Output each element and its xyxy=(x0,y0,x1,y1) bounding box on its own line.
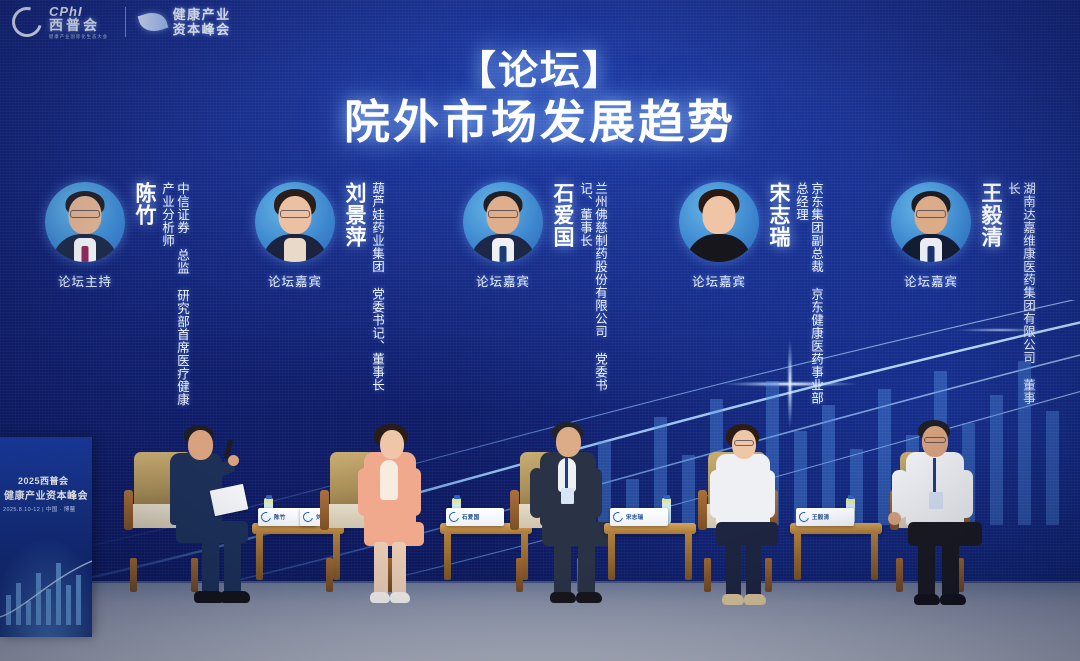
speaker-3-glasses-icon xyxy=(488,210,518,218)
speaker-lineup: 论坛主持 陈竹 中信证券 总监 研究部首席医疗健康产业分析师 论坛嘉宾 刘景萍 … xyxy=(0,182,1080,432)
person-guest-wang-yiqing xyxy=(888,420,1008,625)
name-placard-5: 王毅清 xyxy=(796,508,854,526)
leaf-icon xyxy=(137,8,168,35)
placard-logo-icon xyxy=(447,510,461,524)
speaker-card-4: 论坛嘉宾 宋志瑞 京东集团副总裁 京东健康医药事业部总经理 xyxy=(676,182,823,412)
speaker-5-glasses-icon xyxy=(916,210,946,218)
speaker-2-avatar xyxy=(255,182,335,262)
forum-title-block: 【论坛】 院外市场发展趋势 xyxy=(0,48,1080,150)
speaker-1-avatar xyxy=(45,182,125,262)
speaker-3-role: 论坛嘉宾 xyxy=(476,271,530,290)
speaker-4-name: 宋志瑞 xyxy=(766,182,790,248)
speaker-4-portrait-col: 论坛嘉宾 xyxy=(676,182,762,290)
badge-1 xyxy=(561,488,574,504)
speaker-2-name: 刘景萍 xyxy=(342,182,366,248)
placard-logo-icon xyxy=(259,510,273,524)
person-glasses-icon xyxy=(924,437,946,443)
side-table-4 xyxy=(790,523,882,583)
speaker-1-affiliation: 中信证券 总监 研究部首席医疗健康产业分析师 xyxy=(159,182,189,412)
placard-logo-icon xyxy=(797,510,811,524)
speaker-card-1: 论坛主持 陈竹 中信证券 总监 研究部首席医疗健康产业分析师 xyxy=(42,182,189,412)
capital-summit-line1: 健康产业 xyxy=(173,7,231,22)
speaker-4-affiliation: 京东集团副总裁 京东健康医药事业部总经理 xyxy=(793,182,823,412)
speaker-5-portrait-col: 论坛嘉宾 xyxy=(888,182,974,290)
speaker-3-name: 石爱国 xyxy=(550,182,574,248)
script-paper xyxy=(210,484,249,517)
podium-banner: 2025西普会 健康产业资本峰会 2025.8.10-12 | 中国 · 博鳌 xyxy=(0,437,92,637)
speaker-3-portrait-col: 论坛嘉宾 xyxy=(460,182,546,290)
speaker-card-2: 论坛嘉宾 刘景萍 葫芦娃药业集团 党委书记、董事长 xyxy=(252,182,384,392)
capital-summit-line2: 资本峰会 xyxy=(173,22,231,37)
speaker-2-portrait-col: 论坛嘉宾 xyxy=(252,182,338,290)
lanyard-1 xyxy=(565,458,568,490)
speaker-5-affiliation: 湖南达嘉维康医药集团有限公司 董事长 xyxy=(1005,182,1035,412)
podium-title-line-1: 2025西普会 xyxy=(18,474,69,487)
page-title-line-2: 院外市场发展趋势 xyxy=(0,94,1080,150)
speaker-3-affiliation: 兰州佛慈制药股份有限公司 党委书记、董事长 xyxy=(577,182,607,412)
speaker-2-role: 论坛嘉宾 xyxy=(268,271,322,290)
cphi-logo-subtitle: 健康产业国际化生态大会 xyxy=(49,33,108,40)
speaker-1-glasses-icon xyxy=(70,210,100,218)
person-glasses-icon xyxy=(734,440,754,446)
speaker-5-role: 论坛嘉宾 xyxy=(904,271,958,290)
podium-title-line-2: 健康产业资本峰会 xyxy=(4,487,88,502)
badge-2 xyxy=(929,492,943,509)
speaker-1-portrait-col: 论坛主持 xyxy=(42,182,128,290)
name-placard-4: 宋志瑞 xyxy=(610,508,668,526)
cphi-logo-latin: CPhI xyxy=(49,5,111,18)
placard-logo-icon xyxy=(611,510,625,524)
speaker-4-avatar xyxy=(679,182,759,262)
event-logo-bar: CPhI 西普会 健康产业国际化生态大会 健康产业 资本峰会 xyxy=(0,0,1080,44)
speaker-3-avatar xyxy=(463,182,543,262)
cphi-circle-icon xyxy=(7,2,48,43)
podium-date: 2025.8.10-12 | 中国 · 博鳌 xyxy=(3,505,76,513)
page-title-line-1: 【论坛】 xyxy=(0,48,1080,94)
capital-summit-logo: 健康产业 资本峰会 xyxy=(140,7,231,37)
speaker-2-affiliation: 葫芦娃药业集团 党委书记、董事长 xyxy=(369,182,384,392)
speaker-4-role: 论坛嘉宾 xyxy=(692,271,746,290)
side-table-3 xyxy=(604,523,696,583)
podium-chart-graphic xyxy=(0,555,92,625)
stage-screen-background: CPhI 西普会 健康产业国际化生态大会 健康产业 资本峰会 【论坛】 院外市场… xyxy=(0,0,1080,661)
speaker-2-glasses-icon xyxy=(280,210,310,218)
speaker-1-name: 陈竹 xyxy=(132,182,156,226)
speaker-1-role: 论坛主持 xyxy=(58,271,112,290)
cphi-logo-chinese: 西普会 xyxy=(49,18,111,33)
speaker-5-name: 王毅清 xyxy=(978,182,1002,248)
lanyard-2 xyxy=(933,458,936,494)
speaker-5-avatar xyxy=(891,182,971,262)
logo-divider xyxy=(125,7,126,37)
placard-logo-icon xyxy=(301,510,315,524)
speaker-card-5: 论坛嘉宾 王毅清 湖南达嘉维康医药集团有限公司 董事长 xyxy=(888,182,1035,412)
speaker-card-3: 论坛嘉宾 石爱国 兰州佛慈制药股份有限公司 党委书记、董事长 xyxy=(460,182,607,412)
cphi-logo: CPhI 西普会 健康产业国际化生态大会 xyxy=(12,5,111,40)
name-placard-3: 石爱国 xyxy=(446,508,504,526)
